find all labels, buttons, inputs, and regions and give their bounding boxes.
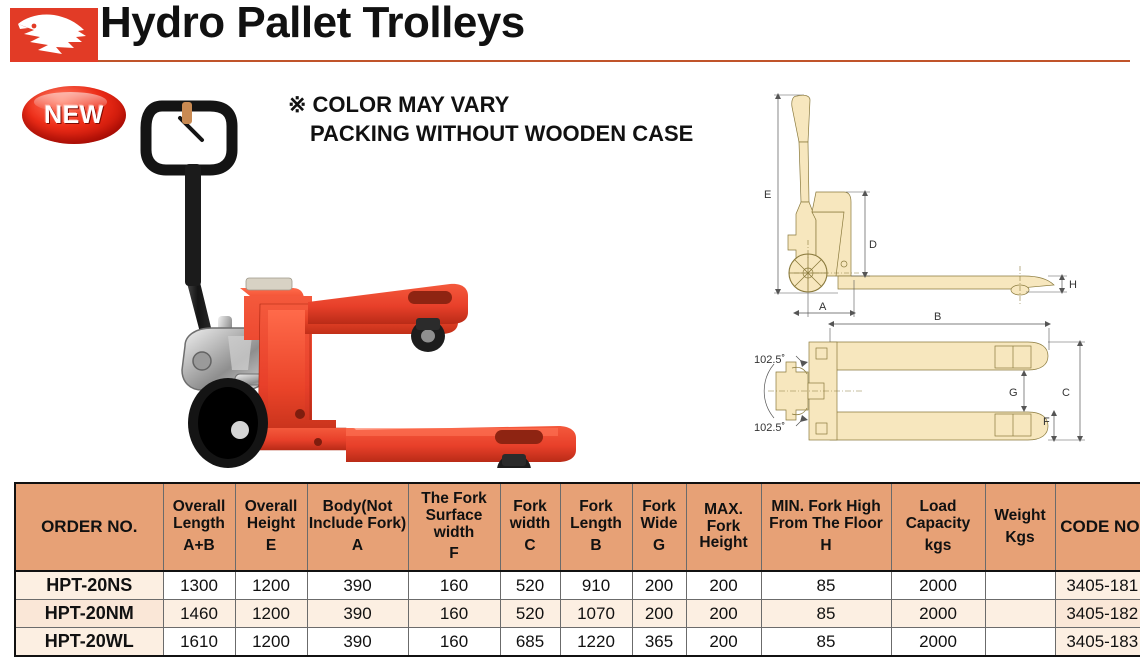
cell-code-no: 3405-181 <box>1055 571 1140 600</box>
page-header: Hydro Pallet Trolleys <box>0 0 1140 72</box>
title-underline-rule <box>98 60 1130 62</box>
cell-fork-wide: 200 <box>632 600 686 628</box>
column-header-fork-width: Fork width C <box>500 483 560 571</box>
svg-text:B: B <box>934 311 941 323</box>
handle-grip <box>182 102 192 124</box>
cell-fork-width: 520 <box>500 571 560 600</box>
eagle-head-logo-icon <box>10 8 98 62</box>
column-header-order-no: ORDER NO. <box>15 483 163 571</box>
cell-weight <box>985 628 1055 657</box>
svg-text:102.5˚: 102.5˚ <box>754 422 785 434</box>
cell-overall-length: 1460 <box>163 600 235 628</box>
cell-load-capacity: 2000 <box>891 571 985 600</box>
cell-fork-length: 1070 <box>560 600 632 628</box>
cell-fork-surface-width: 160 <box>408 600 500 628</box>
new-badge: NEW <box>22 86 126 144</box>
cell-code-no: 3405-183 <box>1055 628 1140 657</box>
svg-text:102.5˚: 102.5˚ <box>754 354 785 366</box>
cell-order-no: HPT-20NM <box>15 600 163 628</box>
cell-max-fork-height: 200 <box>686 628 761 657</box>
svg-text:C: C <box>1062 387 1070 399</box>
cell-fork-length: 910 <box>560 571 632 600</box>
cell-order-no: HPT-20NS <box>15 571 163 600</box>
page-title: Hydro Pallet Trolleys <box>100 0 525 48</box>
table-row: HPT-20NS 1300 1200 390 160 520 910 200 2… <box>15 571 1140 600</box>
cell-fork-wide: 365 <box>632 628 686 657</box>
column-header-overall-height: Overall Height E <box>235 483 307 571</box>
cell-overall-height: 1200 <box>235 628 307 657</box>
cell-max-fork-height: 200 <box>686 600 761 628</box>
column-header-body-not-include-fork: Body(Not Include Fork) A <box>307 483 408 571</box>
column-header-fork-surface-width: The Fork Surface width F <box>408 483 500 571</box>
cell-body-a: 390 <box>307 571 408 600</box>
cell-fork-length: 1220 <box>560 628 632 657</box>
cell-fork-width: 520 <box>500 600 560 628</box>
column-header-weight: Weight Kgs <box>985 483 1055 571</box>
table-header-row: ORDER NO. Overall Length A+B Overall Hei… <box>15 483 1140 571</box>
cell-overall-height: 1200 <box>235 571 307 600</box>
cell-order-no: HPT-20WL <box>15 628 163 657</box>
column-header-fork-length: Fork Length B <box>560 483 632 571</box>
column-header-load-capacity: Load Capacity kgs <box>891 483 985 571</box>
technical-drawings: E <box>752 80 1138 462</box>
cell-fork-surface-width: 160 <box>408 628 500 657</box>
table-row: HPT-20WL 1610 1200 390 160 685 1220 365 … <box>15 628 1140 657</box>
cell-overall-height: 1200 <box>235 600 307 628</box>
svg-text:D: D <box>869 239 877 251</box>
product-photo <box>140 78 600 468</box>
cell-body-a: 390 <box>307 600 408 628</box>
cell-min-fork-high: 85 <box>761 571 891 600</box>
table-row: HPT-20NM 1460 1200 390 160 520 1070 200 … <box>15 600 1140 628</box>
cell-fork-wide: 200 <box>632 571 686 600</box>
cell-min-fork-high: 85 <box>761 600 891 628</box>
svg-text:A: A <box>819 301 827 313</box>
svg-text:E: E <box>764 189 771 201</box>
column-header-fork-wide: Fork Wide G <box>632 483 686 571</box>
svg-text:F: F <box>1043 416 1050 428</box>
column-header-overall-length: Overall Length A+B <box>163 483 235 571</box>
cell-body-a: 390 <box>307 628 408 657</box>
cell-overall-length: 1300 <box>163 571 235 600</box>
cell-overall-length: 1610 <box>163 628 235 657</box>
cell-load-capacity: 2000 <box>891 628 985 657</box>
column-header-code-no: CODE NO. <box>1055 483 1140 571</box>
cell-code-no: 3405-182 <box>1055 600 1140 628</box>
svg-text:G: G <box>1009 387 1018 399</box>
spec-plate <box>246 278 292 290</box>
svg-text:H: H <box>1069 279 1077 291</box>
specification-table: ORDER NO. Overall Length A+B Overall Hei… <box>14 482 1140 657</box>
column-header-min-fork-high-from-floor: MIN. Fork High From The Floor H <box>761 483 891 571</box>
column-header-max-fork-height: MAX. Fork Height <box>686 483 761 571</box>
cell-load-capacity: 2000 <box>891 600 985 628</box>
cell-fork-width: 685 <box>500 628 560 657</box>
new-badge-label: NEW <box>22 86 126 144</box>
cell-weight <box>985 600 1055 628</box>
cell-weight <box>985 571 1055 600</box>
cell-max-fork-height: 200 <box>686 571 761 600</box>
cell-fork-surface-width: 160 <box>408 571 500 600</box>
steer-wheel <box>188 378 268 468</box>
cell-min-fork-high: 85 <box>761 628 891 657</box>
